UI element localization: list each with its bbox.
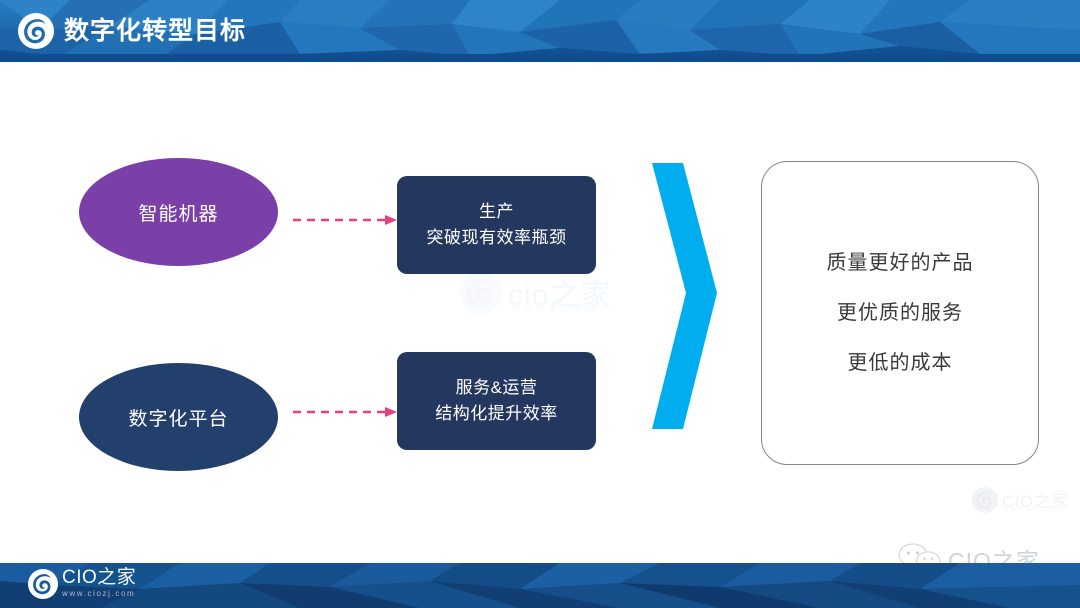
outcome-line-2: 更优质的服务 [837, 288, 963, 338]
node-smart-machines[interactable]: 智能机器 [79, 158, 278, 266]
node-smart-machines-label: 智能机器 [138, 199, 218, 226]
slide-canvas: 数字化转型目标 cio之家 首席信息官联盟 智能机器 数字化平台 生产 突破现有… [0, 0, 1080, 608]
outcome-line-1: 质量更好的产品 [827, 238, 974, 288]
watermark-br-sub: www.ciozj.com [1004, 506, 1068, 513]
outcome-line-3: 更低的成本 [848, 338, 953, 388]
node-production-line2: 突破现有效率瓶颈 [427, 225, 567, 251]
node-digital-platform-label: 数字化平台 [128, 404, 228, 431]
watermark-center-sub: 首席信息官联盟 [512, 301, 596, 314]
watermark-br-spiral-icon [972, 487, 998, 513]
watermark-center: cio之家 首席信息官联盟 [460, 268, 630, 318]
footer-spiral-logo-icon [28, 569, 58, 599]
node-service-ops[interactable]: 服务&运营 结构化提升效率 [397, 352, 596, 450]
node-service-ops-line1: 服务&运营 [456, 375, 538, 401]
watermark-br-text: CIO之家 [1002, 487, 1069, 512]
footer-polygon-texture [0, 563, 1080, 608]
footer-brand: CIO之家 www.ciozj.com [62, 568, 136, 599]
header-accent-band [0, 54, 1080, 62]
page-title: 数字化转型目标 [64, 13, 246, 49]
chevron-right-arrow-icon [645, 160, 725, 432]
outcome-box[interactable]: 质量更好的产品 更优质的服务 更低的成本 [761, 161, 1039, 465]
node-production-line1: 生产 [479, 199, 514, 225]
footer-brand-url: www.ciozj.com [62, 588, 136, 599]
arrow-digital-platform-to-service-ops [293, 406, 401, 418]
arrow-smart-machines-to-production [293, 214, 401, 226]
watermark-center-text: cio之家 [508, 270, 611, 314]
slide-header: 数字化转型目标 [0, 0, 1080, 62]
node-digital-platform[interactable]: 数字化平台 [79, 363, 278, 471]
spiral-logo-icon [18, 13, 54, 49]
footer-brand-name: CIO之家 [62, 568, 136, 588]
slide-footer [0, 563, 1080, 608]
watermark-spiral-icon [460, 272, 502, 314]
watermark-bottom-right: CIO之家 www.ciozj.com [972, 485, 1076, 521]
node-production[interactable]: 生产 突破现有效率瓶颈 [397, 176, 596, 274]
node-service-ops-line2: 结构化提升效率 [435, 401, 558, 427]
